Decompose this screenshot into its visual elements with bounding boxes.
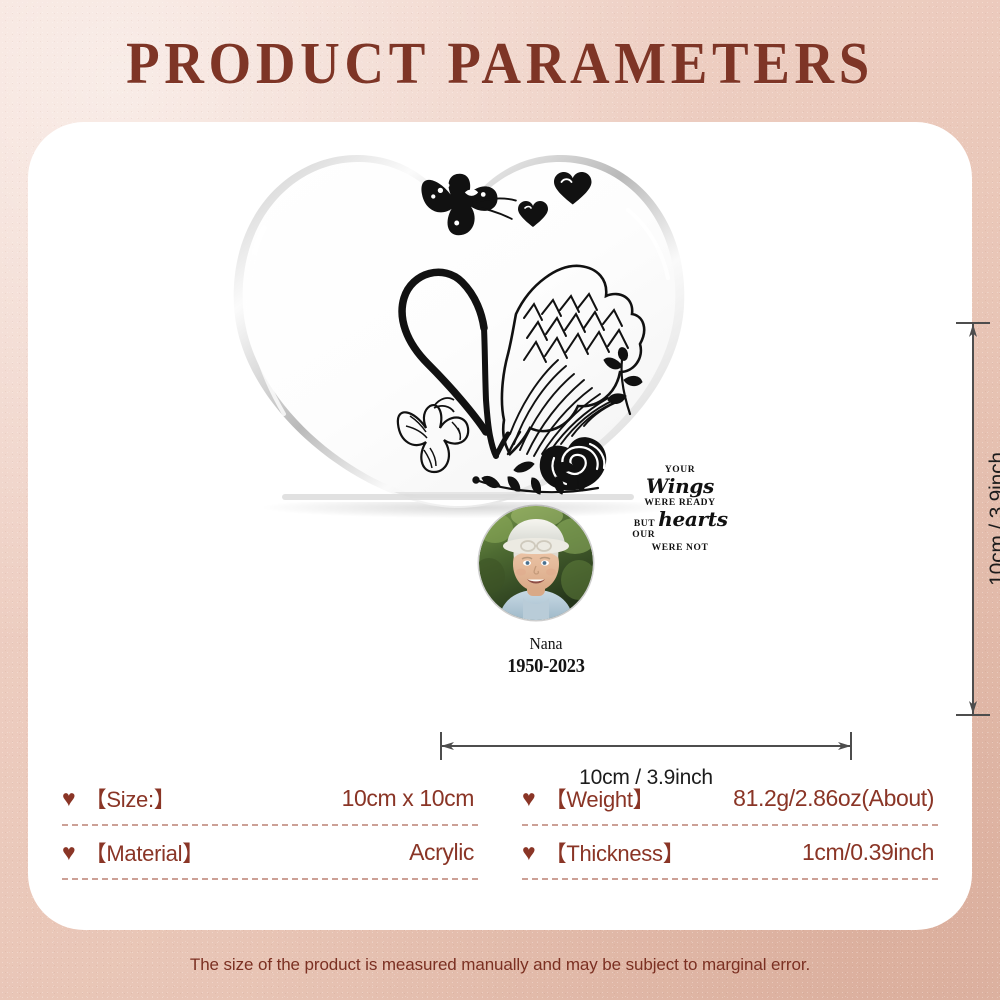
arrow-up-icon — [966, 324, 980, 338]
portrait-photo — [479, 506, 593, 620]
spec-cell-weight: ♥ 【Weight】 81.2g/2.86oz(About) — [522, 772, 938, 826]
spec-key-weight: 【Weight】 — [545, 782, 655, 814]
spec-value-weight: 81.2g/2.86oz(About) — [733, 785, 938, 812]
heart-bullet-icon: ♥ — [62, 787, 76, 810]
height-dimension: 10cm / 3.9inch — [942, 322, 1000, 716]
page-title: PRODUCT PARAMETERS — [35, 32, 965, 94]
spec-value-size: 10cm x 10cm — [342, 785, 478, 812]
spec-key-material: 【Material】 — [85, 836, 204, 868]
heart-bullet-icon: ♥ — [62, 841, 76, 864]
spec-divider-4 — [522, 878, 938, 880]
quote-line-6: WERE NOT — [624, 542, 736, 554]
spec-key-thickness: 【Thickness】 — [545, 836, 685, 868]
memorial-name-block: Nana 1950-2023 — [486, 633, 606, 679]
infographic-page: PRODUCT PARAMETERS — [0, 0, 1000, 1000]
acrylic-heart-plaque — [224, 114, 694, 534]
heart-bullet-icon: ♥ — [522, 787, 536, 810]
spec-divider-3 — [62, 878, 478, 880]
spec-value-material: Acrylic — [409, 839, 478, 866]
arrow-left-icon — [441, 739, 455, 753]
product-illustration: YOUR Wings WERE READY BUT OUR hearts WER… — [200, 100, 740, 570]
heart-plaque-body — [224, 114, 694, 534]
spec-key-size: 【Size:】 — [85, 782, 176, 814]
spec-row-thickness: ♥ 【Thickness】 1cm/0.39inch — [522, 826, 938, 878]
spec-cell-thickness: ♥ 【Thickness】 1cm/0.39inch — [522, 826, 938, 880]
spec-cell-size: ♥ 【Size:】 10cm x 10cm — [62, 772, 478, 826]
spec-row-weight: ♥ 【Weight】 81.2g/2.86oz(About) — [522, 772, 938, 824]
memorial-dates: 1950-2023 — [491, 654, 601, 679]
memorial-name: Nana — [491, 633, 601, 654]
height-dimension-label: 10cm / 3.9inch — [986, 452, 1000, 586]
arrow-down-icon — [966, 700, 980, 714]
arrow-right-icon — [837, 739, 851, 753]
disclaimer-note: The size of the product is measured manu… — [0, 955, 1000, 975]
spec-table: ♥ 【Size:】 10cm x 10cm ♥ 【Weight】 81.2g/2… — [62, 772, 938, 880]
spec-cell-material: ♥ 【Material】 Acrylic — [62, 826, 478, 880]
spec-row-size: ♥ 【Size:】 10cm x 10cm — [62, 772, 478, 824]
spec-value-thickness: 1cm/0.39inch — [802, 839, 938, 866]
spec-row-material: ♥ 【Material】 Acrylic — [62, 826, 478, 878]
heart-bullet-icon: ♥ — [522, 841, 536, 864]
plaque-bottom-edge — [282, 494, 634, 500]
